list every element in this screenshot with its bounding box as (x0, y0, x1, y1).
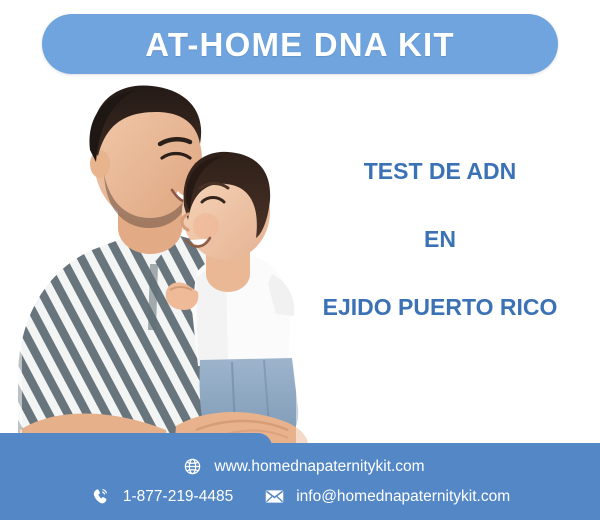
headline-block: TEST DE ADN EN EJIDO PUERTO RICO (300, 160, 580, 319)
globe-icon (181, 456, 203, 478)
family-photo-illustration (0, 78, 320, 453)
envelope-icon (263, 486, 285, 508)
title-text: AT-HOME DNA KIT (145, 28, 454, 61)
email-contact[interactable]: info@homednapaternitykit.com (263, 486, 510, 508)
website-text: www.homednapaternitykit.com (214, 459, 424, 475)
poster-canvas: AT-HOME DNA KIT (0, 0, 600, 520)
family-photo (0, 78, 320, 453)
phone-ringing-icon (90, 486, 112, 508)
headline-line-3: EJIDO PUERTO RICO (300, 296, 580, 319)
email-text: info@homednapaternitykit.com (296, 489, 510, 505)
footer-contact-rows: www.homednapaternitykit.com 1-877-219-44… (0, 443, 600, 520)
footer-row-website: www.homednapaternitykit.com (175, 456, 424, 478)
footer-row-phone-email: 1-877-219-4485 info@homednapaternitykit.… (90, 486, 510, 508)
title-banner: AT-HOME DNA KIT (42, 14, 558, 74)
website-contact[interactable]: www.homednapaternitykit.com (181, 456, 424, 478)
phone-text: 1-877-219-4485 (123, 489, 233, 505)
headline-line-1: TEST DE ADN (300, 160, 580, 183)
phone-contact[interactable]: 1-877-219-4485 (90, 486, 233, 508)
headline-line-2: EN (300, 228, 580, 251)
